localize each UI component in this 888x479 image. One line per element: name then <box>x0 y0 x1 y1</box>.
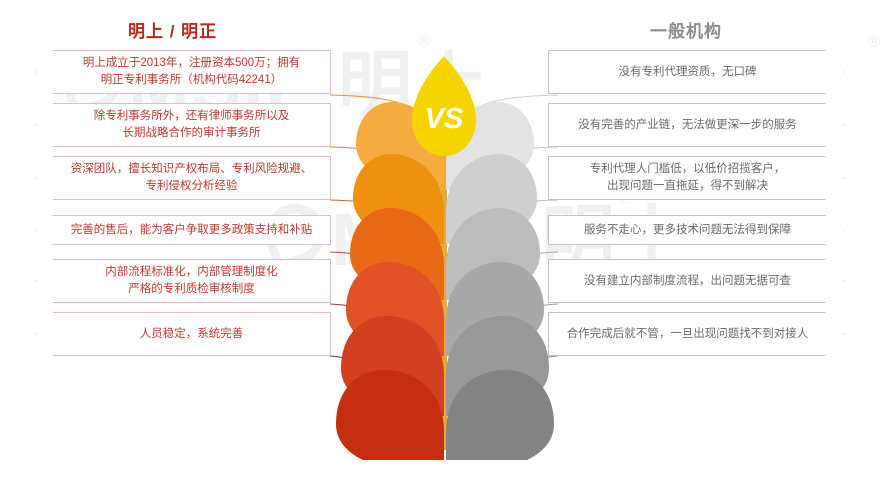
registered-mark-icon-2: ® <box>868 32 881 52</box>
right-banner-6[interactable]: 合作完成后就不管，一旦出现问题找不到对接人 <box>548 312 845 356</box>
right-banner-3-text: 专利代理人门槛低，以低价招揽客户， 出现问题一直拖延，得不到解决 <box>584 161 792 194</box>
left-banner-2-text: 除专利事务所外，还有律师事务所以及 长期战略合作的审计事务所 <box>88 108 296 141</box>
left-banner-4[interactable]: 完善的售后，能为客户争取更多政策支持和补贴 <box>36 215 331 245</box>
vs-badge: VS <box>412 56 476 156</box>
right-banner-2[interactable]: 没有完善的产业链，无法做更深一步的服务 <box>548 103 845 147</box>
left-banner-6-text: 人员稳定，系统完善 <box>134 326 250 343</box>
page-title-left: 明上 / 明正 <box>128 17 217 42</box>
left-banner-5-text: 内部流程标准化，内部管理制度化 严格的专利质检审核制度 <box>99 264 284 297</box>
left-banner-2[interactable]: 除专利事务所外，还有律师事务所以及 长期战略合作的审计事务所 <box>36 103 331 147</box>
left-banner-3-text: 资深团队，擅长知识产权布局、专利风险规避、 专利侵权分析经验 <box>65 161 319 194</box>
right-banner-4-text: 服务不走心，更多技术问题无法得到保障 <box>578 222 797 239</box>
left-banner-6[interactable]: 人员稳定，系统完善 <box>36 312 331 356</box>
wheat-comparison-graphic: VS <box>330 40 560 460</box>
left-banner-4-text: 完善的售后，能为客户争取更多政策支持和补贴 <box>65 222 319 239</box>
page-title-right: 一般机构 <box>650 17 722 42</box>
wheat-leaves-right <box>446 102 554 460</box>
right-banner-2-text: 没有完善的产业链，无法做更深一步的服务 <box>572 117 803 134</box>
left-banner-1-text: 明上成立于2013年，注册资本500万；拥有 明正专利事务所（机构代码42241… <box>77 55 306 88</box>
right-banner-1[interactable]: 没有专利代理资质，无口碑 <box>548 50 845 94</box>
right-banner-4[interactable]: 服务不走心，更多技术问题无法得到保障 <box>548 215 845 245</box>
right-banner-6-text: 合作完成后就不管，一旦出现问题找不到对接人 <box>561 326 815 343</box>
left-banner-5[interactable]: 内部流程标准化，内部管理制度化 严格的专利质检审核制度 <box>36 259 331 303</box>
wheat-leaves-left <box>336 102 444 460</box>
right-banner-3[interactable]: 专利代理人门槛低，以低价招揽客户， 出现问题一直拖延，得不到解决 <box>548 156 845 200</box>
left-banner-1[interactable]: 明上成立于2013年，注册资本500万；拥有 明正专利事务所（机构代码42241… <box>36 50 331 94</box>
slide-canvas: MSIP 明上 MSIP 明上 ® ® ® 明上 / 明正 一般机构 <box>0 0 888 479</box>
vs-badge-label: VS <box>425 103 464 135</box>
right-banner-5-text: 没有建立内部制度流程，出问题无据可查 <box>578 273 797 290</box>
right-banner-1-text: 没有专利代理资质，无口碑 <box>613 64 763 81</box>
right-banner-5[interactable]: 没有建立内部制度流程，出问题无据可查 <box>548 259 845 303</box>
left-banner-3[interactable]: 资深团队，擅长知识产权布局、专利风险规避、 专利侵权分析经验 <box>36 156 331 200</box>
